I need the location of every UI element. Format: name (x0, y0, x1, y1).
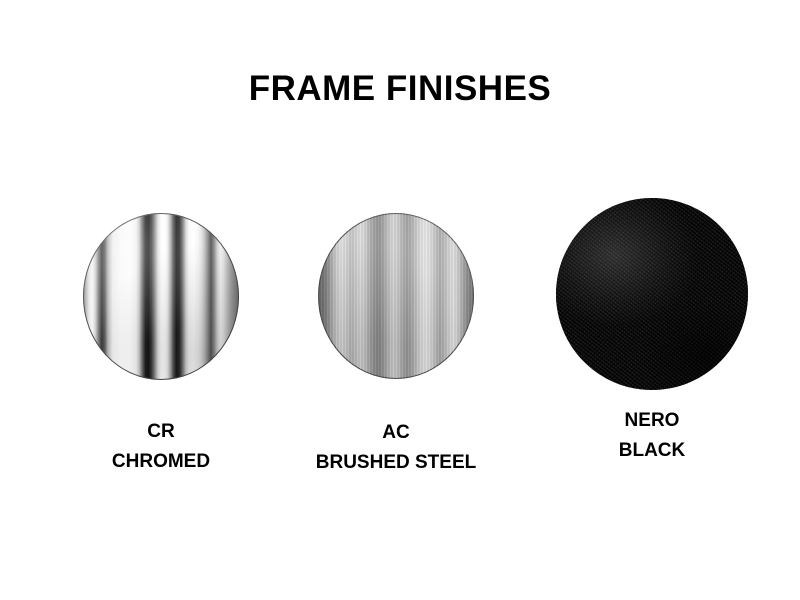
finish-option-nero-black[interactable]: NERO BLACK (556, 198, 748, 390)
finish-label-nero-black: NERO BLACK (619, 406, 686, 466)
chromed-finish-swatch[interactable] (83, 213, 239, 380)
finish-name-brushed-steel: BRUSHED STEEL (316, 448, 476, 478)
finish-code-chromed: CR (112, 417, 210, 447)
finish-code-nero-black: NERO (619, 406, 686, 436)
finish-option-brushed-steel[interactable]: AC BRUSHED STEEL (318, 213, 474, 379)
nero-black-finish-swatch[interactable] (556, 198, 748, 390)
finish-name-chromed: CHROMED (112, 447, 210, 477)
finish-label-chromed: CR CHROMED (112, 417, 210, 477)
finish-option-chromed[interactable]: CR CHROMED (83, 213, 239, 380)
finish-code-brushed-steel: AC (316, 418, 476, 448)
frame-finish-swatch-group: CR CHROMED AC BRUSHED STEEL NERO BLACK (0, 0, 800, 600)
finish-name-nero-black: BLACK (619, 436, 686, 466)
finish-label-brushed-steel: AC BRUSHED STEEL (316, 418, 476, 478)
brushed-steel-finish-swatch[interactable] (318, 213, 474, 379)
